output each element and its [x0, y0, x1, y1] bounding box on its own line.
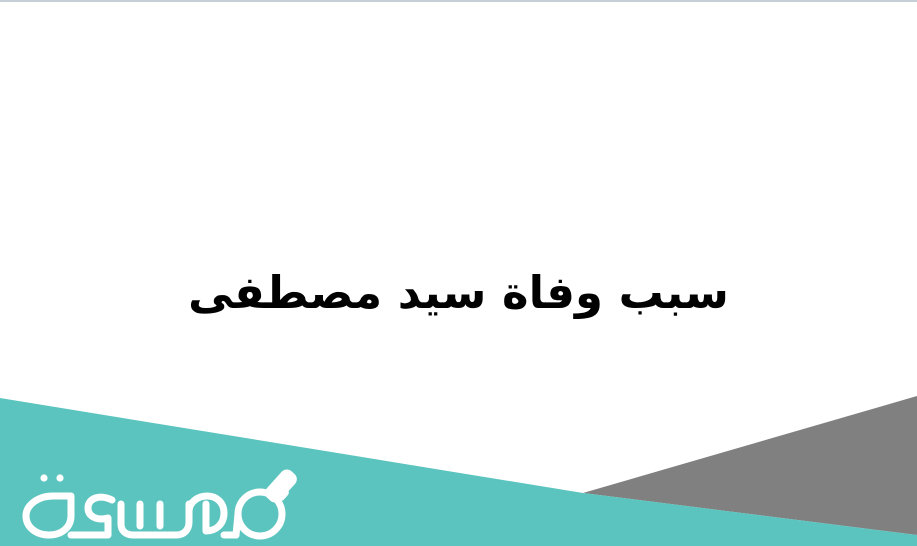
ta-marbuta-dot-right [56, 474, 63, 481]
brand-logo[interactable]: موسوعة [8, 452, 308, 546]
magnifying-glass-icon [262, 467, 299, 506]
ta-marbuta-dot-left [40, 474, 47, 481]
cover-canvas: سبب وفاة سيد مصطفى موسوعة [0, 0, 917, 546]
page-title: سبب وفاة سيد مصطفى [0, 262, 917, 324]
top-border-rule [0, 0, 917, 2]
brand-logo-glyphs [26, 474, 282, 536]
